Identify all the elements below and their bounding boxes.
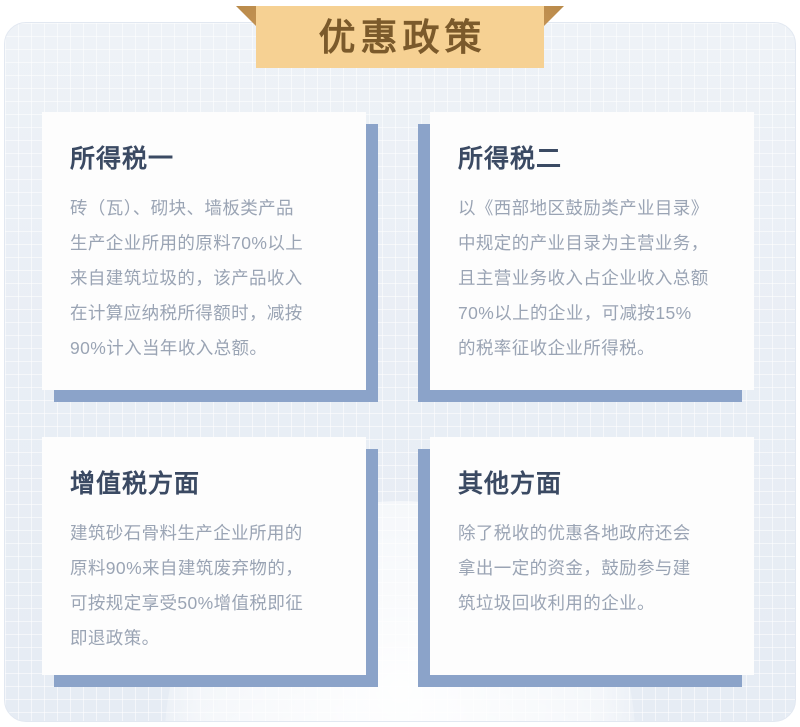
banner-plate: 优惠政策 — [256, 6, 544, 68]
card-line: 除了税收的优惠各地政府还会 — [458, 516, 726, 551]
card-other[interactable]: 其他方面 除了税收的优惠各地政府还会 拿出一定的资金，鼓励参与建 筑垃圾回收利用… — [418, 437, 758, 687]
card-income-tax-1[interactable]: 所得税一 砖（瓦）、砌块、墙板类产品 生产企业所用的原料70%以上 来自建筑垃圾… — [42, 112, 382, 402]
banner: 优惠政策 — [0, 0, 800, 80]
card-title: 所得税一 — [70, 146, 338, 174]
card-line: 的税率征收企业所得税。 — [458, 331, 726, 366]
card-line: 砖（瓦）、砌块、墙板类产品 — [70, 191, 338, 226]
card-line: 来自建筑垃圾的，该产品收入 — [70, 261, 338, 296]
card-surface: 所得税二 以《西部地区鼓励类产业目录》 中规定的产业目录为主营业务， 且主营业务… — [430, 112, 754, 390]
card-shadow-vertical — [418, 449, 430, 687]
card-line: 筑垃圾回收利用的企业。 — [458, 586, 726, 621]
card-body: 砖（瓦）、砌块、墙板类产品 生产企业所用的原料70%以上 来自建筑垃圾的，该产品… — [70, 191, 338, 366]
card-line: 建筑砂石骨料生产企业所用的 — [70, 516, 338, 551]
card-grid: 所得税一 砖（瓦）、砌块、墙板类产品 生产企业所用的原料70%以上 来自建筑垃圾… — [0, 0, 800, 727]
card-line: 90%计入当年收入总额。 — [70, 331, 338, 366]
card-line: 70%以上的企业，可减按15% — [458, 296, 726, 331]
card-vat[interactable]: 增值税方面 建筑砂石骨料生产企业所用的 原料90%来自建筑废弃物的， 可按规定享… — [42, 437, 382, 687]
card-title: 所得税二 — [458, 146, 726, 174]
card-line: 拿出一定的资金，鼓励参与建 — [458, 551, 726, 586]
card-title: 增值税方面 — [70, 471, 338, 499]
card-surface: 其他方面 除了税收的优惠各地政府还会 拿出一定的资金，鼓励参与建 筑垃圾回收利用… — [430, 437, 754, 675]
page-title: 优惠政策 — [314, 19, 487, 56]
card-line: 原料90%来自建筑废弃物的， — [70, 551, 338, 586]
card-shadow-horizontal — [418, 390, 742, 402]
card-shadow-vertical — [366, 124, 378, 402]
card-shadow-horizontal — [418, 675, 742, 687]
card-title: 其他方面 — [458, 471, 726, 499]
card-body: 建筑砂石骨料生产企业所用的 原料90%来自建筑废弃物的， 可按规定享受50%增值… — [70, 516, 338, 656]
card-income-tax-2[interactable]: 所得税二 以《西部地区鼓励类产业目录》 中规定的产业目录为主营业务， 且主营业务… — [418, 112, 758, 402]
card-line: 即退政策。 — [70, 621, 338, 656]
card-line: 可按规定享受50%增值税即征 — [70, 586, 338, 621]
card-surface: 所得税一 砖（瓦）、砌块、墙板类产品 生产企业所用的原料70%以上 来自建筑垃圾… — [42, 112, 366, 390]
card-body: 以《西部地区鼓励类产业目录》 中规定的产业目录为主营业务， 且主营业务收入占企业… — [458, 191, 726, 366]
card-line: 在计算应纳税所得额时，减按 — [70, 296, 338, 331]
card-shadow-horizontal — [54, 390, 378, 402]
card-shadow-vertical — [366, 449, 378, 687]
card-shadow-horizontal — [54, 675, 378, 687]
card-line: 且主营业务收入占企业收入总额 — [458, 261, 726, 296]
card-shadow-vertical — [418, 124, 430, 402]
card-line: 以《西部地区鼓励类产业目录》 — [458, 191, 726, 226]
card-line: 生产企业所用的原料70%以上 — [70, 226, 338, 261]
card-surface: 增值税方面 建筑砂石骨料生产企业所用的 原料90%来自建筑废弃物的， 可按规定享… — [42, 437, 366, 675]
card-line: 中规定的产业目录为主营业务， — [458, 226, 726, 261]
card-body: 除了税收的优惠各地政府还会 拿出一定的资金，鼓励参与建 筑垃圾回收利用的企业。 — [458, 516, 726, 621]
